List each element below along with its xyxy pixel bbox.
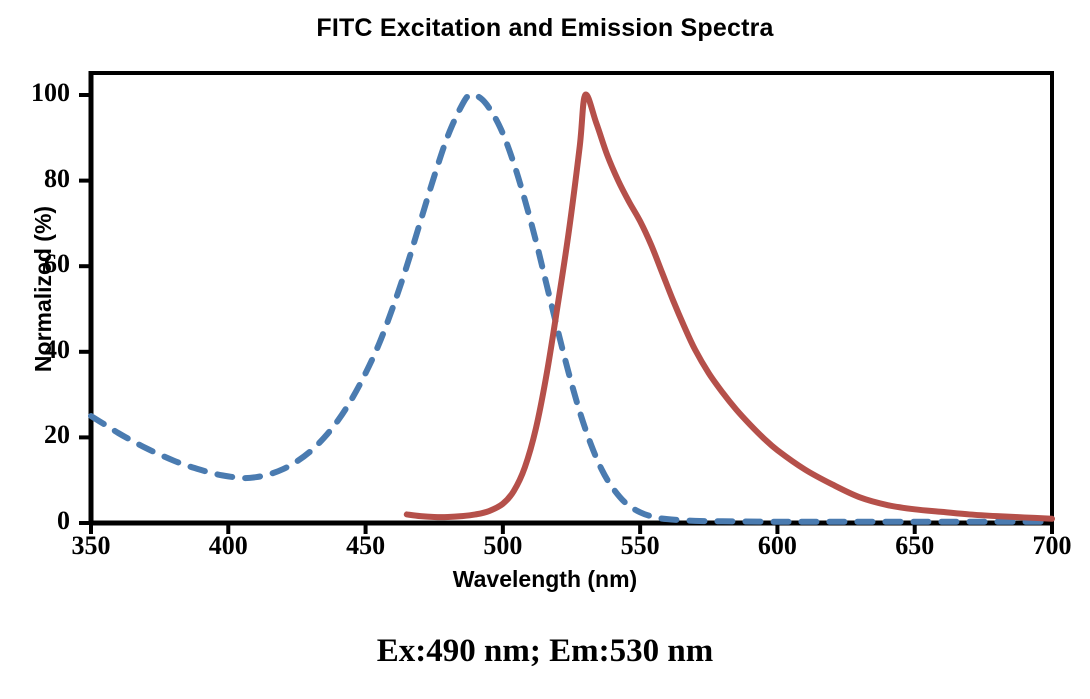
x-tick-label: 450 <box>321 531 411 561</box>
x-axis-title: Wavelength (nm) <box>0 566 1090 593</box>
x-tick-label: 400 <box>183 531 273 561</box>
y-tick-label: 0 <box>0 506 70 536</box>
x-tick-label: 600 <box>732 531 822 561</box>
y-tick-label: 20 <box>0 420 70 450</box>
x-tick-label: 650 <box>870 531 960 561</box>
plot-canvas <box>0 0 1090 699</box>
chart-caption: Ex:490 nm; Em:530 nm <box>0 633 1090 670</box>
x-tick-label: 550 <box>595 531 685 561</box>
x-tick-label: 700 <box>1007 531 1090 561</box>
excitation-curve <box>91 95 1052 522</box>
x-tick-label: 500 <box>458 531 548 561</box>
emission-curve <box>407 95 1052 519</box>
chart-figure: FITC Excitation and Emission Spectra 350… <box>0 0 1090 699</box>
y-tick-label: 100 <box>0 78 70 108</box>
axis-frame <box>89 71 1054 525</box>
y-axis-title: Normalized (%) <box>30 159 57 419</box>
